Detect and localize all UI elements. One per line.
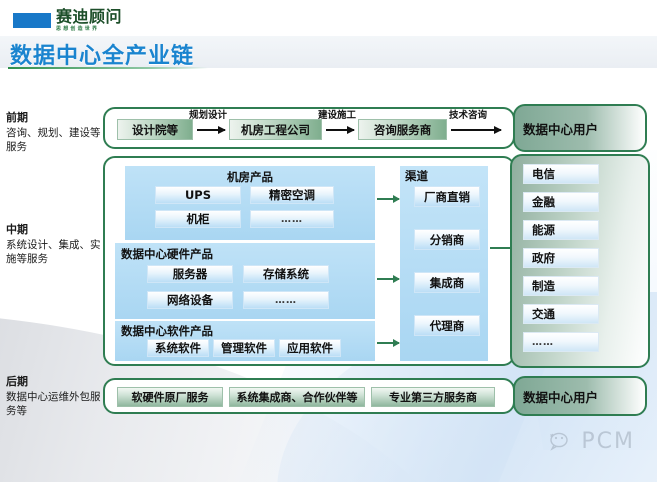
stage-name-early: 前期 <box>6 111 102 125</box>
datacenter-user-bottom: 数据中心用户 <box>513 376 647 416</box>
flow-caption-construction: 建设施工 <box>318 107 356 121</box>
channel-block: 渠道 厂商直销 分销商 集成商 代理商 <box>400 166 488 361</box>
service-chip-oem: 软硬件原厂服务 <box>117 387 223 407</box>
page-title: 数据中心全产业链 <box>10 38 194 70</box>
watermark: PCM <box>549 429 635 454</box>
flow-node-consulting-provider: 咨询服务商 <box>358 119 447 140</box>
logo-tagline: 思想创造世界 <box>56 27 122 32</box>
industry-item-energy: 能源 <box>523 220 599 240</box>
product-block-hardware: 数据中心硬件产品 服务器 存储系统 网络设备 …… <box>115 243 375 319</box>
flow-node-engineering-company: 机房工程公司 <box>229 119 322 140</box>
stage-label-late: 后期 数据中心运维外包服务等 <box>6 375 102 418</box>
industry-item-more: …… <box>523 332 599 352</box>
product-item-application-software: 应用软件 <box>279 339 341 357</box>
industry-column: 电信 金融 能源 政府 制造 交通 …… <box>510 154 650 368</box>
channel-arrow-3-icon <box>377 342 399 344</box>
channel-arrow-1-icon <box>377 198 399 200</box>
brand-logo: 赛迪顾问 思想创造世界 <box>13 9 122 32</box>
flow-caption-planning: 规划设计 <box>189 107 227 121</box>
datacenter-user-bottom-label: 数据中心用户 <box>523 387 598 406</box>
product-item-network-equipment: 网络设备 <box>147 291 233 309</box>
industry-item-telecom: 电信 <box>523 164 599 184</box>
datacenter-user-top: 数据中心用户 <box>513 104 647 152</box>
industry-item-transport: 交通 <box>523 304 599 324</box>
product-item-server: 服务器 <box>147 265 233 283</box>
product-item-ups: UPS <box>155 186 241 204</box>
flow-arrow-3-icon <box>451 129 501 131</box>
product-item-room-more: …… <box>250 210 334 228</box>
title-underline <box>8 67 208 69</box>
channel-item-direct-sales: 厂商直销 <box>414 186 480 207</box>
flow-node-design-institute: 设计院等 <box>117 119 193 140</box>
watermark-text: PCM <box>581 429 635 454</box>
bottom-services-panel: 软硬件原厂服务 系统集成商、合作伙伴等 专业第三方服务商 <box>103 378 515 414</box>
product-item-management-software: 管理软件 <box>213 339 275 357</box>
slide-canvas: 赛迪顾问 思想创造世界 数据中心全产业链 前期 咨询、规划、建设等服务 中期 系… <box>0 0 657 482</box>
channel-item-agent: 代理商 <box>414 315 480 336</box>
stage-desc-late: 数据中心运维外包服务等 <box>6 391 101 417</box>
product-block-room: 机房产品 UPS 精密空调 机柜 …… <box>125 166 375 240</box>
logo-text: 赛迪顾问 思想创造世界 <box>56 9 122 32</box>
service-chip-third-party: 专业第三方服务商 <box>371 387 495 407</box>
stage-label-early: 前期 咨询、规划、建设等服务 <box>6 111 102 154</box>
flow-arrow-2-icon <box>326 129 354 131</box>
product-block-hardware-title: 数据中心硬件产品 <box>121 246 213 262</box>
channel-item-integrator: 集成商 <box>414 272 480 293</box>
industry-item-government: 政府 <box>523 248 599 268</box>
stage-label-mid: 中期 系统设计、集成、实施等服务 <box>6 223 102 266</box>
service-chip-integrator-partner: 系统集成商、合作伙伴等 <box>229 387 365 407</box>
product-block-room-title: 机房产品 <box>125 169 375 185</box>
datacenter-user-top-label: 数据中心用户 <box>523 119 598 138</box>
product-block-software-title: 数据中心软件产品 <box>121 323 213 339</box>
channel-item-distributor: 分销商 <box>414 229 480 250</box>
product-item-hardware-more: …… <box>243 291 329 309</box>
wechat-icon <box>549 431 575 453</box>
stage-desc-early: 咨询、规划、建设等服务 <box>6 127 101 153</box>
stage-name-late: 后期 <box>6 375 102 389</box>
top-flow-panel: 设计院等 规划设计 机房工程公司 建设施工 咨询服务商 技术咨询 <box>103 107 515 149</box>
flow-caption-tech-consulting: 技术咨询 <box>449 107 487 121</box>
channel-arrow-2-icon <box>377 278 399 280</box>
product-item-cabinet: 机柜 <box>155 210 241 228</box>
channel-block-title: 渠道 <box>405 168 428 184</box>
logo-company-name: 赛迪顾问 <box>56 9 122 25</box>
product-item-storage: 存储系统 <box>243 265 329 283</box>
stage-name-mid: 中期 <box>6 223 102 237</box>
flow-arrow-1-icon <box>197 129 225 131</box>
industry-item-manufacturing: 制造 <box>523 276 599 296</box>
product-item-system-software: 系统软件 <box>147 339 209 357</box>
middle-products-panel: 机房产品 UPS 精密空调 机柜 …… 数据中心硬件产品 服务器 存储系统 网络… <box>103 156 515 366</box>
stage-desc-mid: 系统设计、集成、实施等服务 <box>6 239 101 265</box>
logo-mark-icon <box>13 13 51 28</box>
product-block-software: 数据中心软件产品 系统软件 管理软件 应用软件 <box>115 321 375 361</box>
product-item-precision-ac: 精密空调 <box>250 186 334 204</box>
industry-item-finance: 金融 <box>523 192 599 212</box>
